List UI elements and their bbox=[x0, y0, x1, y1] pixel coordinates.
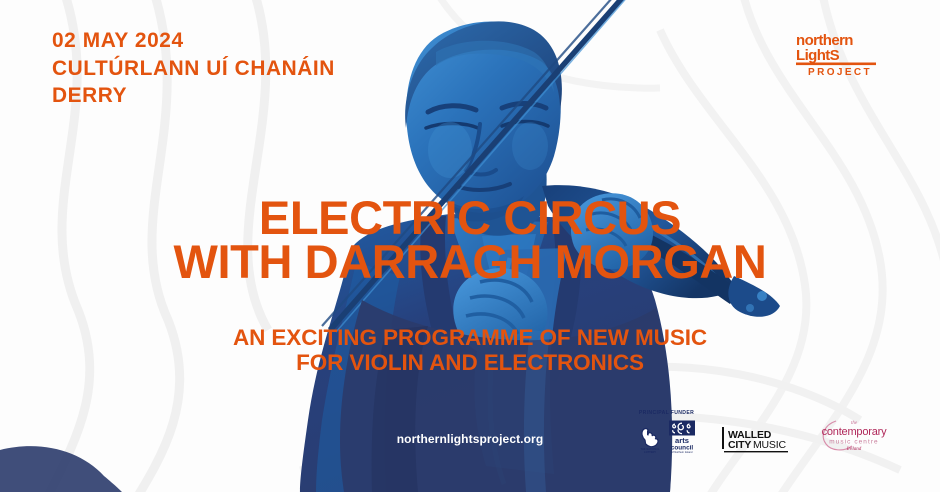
contemporary-music-centre-logo: the contemporary music centre Ireland bbox=[816, 416, 892, 454]
event-date: 02 MAY 2024 bbox=[52, 27, 335, 55]
event-venue: CULTÚRLANN UÍ CHANÁIN bbox=[52, 55, 335, 83]
sponsor-walled-city-music: WALLED CITY MUSIC bbox=[722, 426, 790, 454]
logo-line-lights: LightS bbox=[796, 47, 840, 64]
sponsor-contemporary-music-centre: the contemporary music centre Ireland bbox=[816, 416, 892, 454]
title-line-1: ELECTRIC CIRCUS bbox=[0, 196, 940, 240]
logo-underline bbox=[796, 63, 876, 66]
national-lottery-caption-2: LOTTERY bbox=[644, 450, 656, 454]
arts-council-label-region: of Northern Ireland bbox=[672, 451, 693, 454]
cmc-label-ireland: Ireland bbox=[846, 447, 862, 452]
cmc-label-contemporary: contemporary bbox=[822, 426, 888, 438]
principal-funder-label: PRINCIPAL FUNDER bbox=[639, 410, 694, 416]
wcm-label-city: CITY bbox=[728, 439, 751, 451]
poster-title: ELECTRIC CIRCUS WITH DARRAGH MORGAN bbox=[0, 196, 940, 284]
event-city: DERRY bbox=[52, 82, 335, 110]
walled-city-music-logo: WALLED CITY MUSIC bbox=[722, 426, 790, 454]
logo-line-project: PROJECT bbox=[808, 67, 872, 78]
cmc-label-music-centre: music centre bbox=[829, 439, 878, 446]
wcm-label-music: MUSIC bbox=[753, 439, 786, 451]
national-lottery-icon: THE NATIONAL LOTTERY bbox=[637, 420, 663, 454]
sponsor-logos: PRINCIPAL FUNDER THE NATIONAL LOTTERY bbox=[637, 410, 892, 454]
northern-lights-project-logo: northern LightS PROJECT bbox=[794, 30, 880, 78]
event-poster: 02 MAY 2024 CULTÚRLANN UÍ CHANÁIN DERRY … bbox=[0, 0, 940, 492]
website-url[interactable]: northernlightsproject.org bbox=[340, 432, 600, 446]
subtitle-line-2: FOR VIOLIN AND ELECTRONICS bbox=[0, 350, 940, 375]
title-line-2: WITH DARRAGH MORGAN bbox=[0, 240, 940, 284]
poster-subtitle: AN EXCITING PROGRAMME OF NEW MUSIC FOR V… bbox=[0, 325, 940, 376]
sponsor-arts-council-northern-ireland: PRINCIPAL FUNDER THE NATIONAL LOTTERY bbox=[637, 410, 696, 454]
event-details: 02 MAY 2024 CULTÚRLANN UÍ CHANÁIN DERRY bbox=[52, 27, 335, 110]
arts-council-icon: arts council of Northern Ireland bbox=[668, 420, 696, 454]
subtitle-line-1: AN EXCITING PROGRAMME OF NEW MUSIC bbox=[0, 325, 940, 350]
